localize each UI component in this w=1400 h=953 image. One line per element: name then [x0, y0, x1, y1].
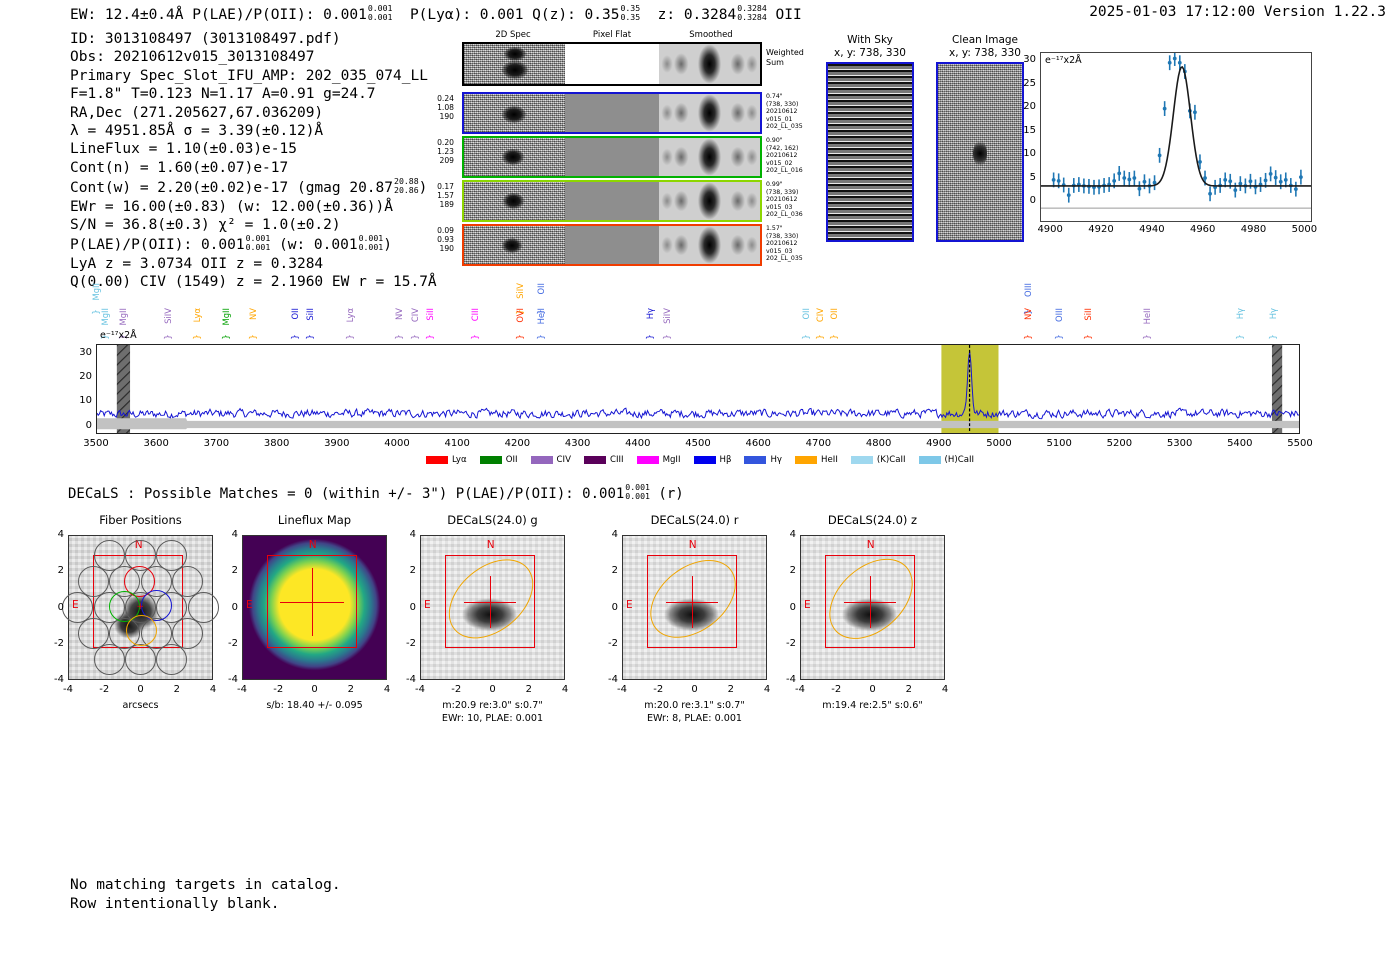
- line-brace-19: {: [661, 334, 671, 340]
- info-primary-spec: Primary Spec_Slot_IFU_AMP: 202_035_074_L…: [70, 67, 437, 85]
- panel-0-xtick: 4: [201, 684, 225, 695]
- panel-2-ytick: -4: [398, 674, 416, 685]
- legend-swatch-icon: [426, 456, 448, 464]
- legend-label: (H)CaII: [945, 455, 975, 465]
- legend-label: (K)CaII: [877, 455, 906, 465]
- header-summary-b: P(Lyα): 0.001 Q(z): 0.35: [410, 7, 620, 23]
- line-label-lyα-9: Lyα: [345, 308, 355, 322]
- panel-4-ytick: -2: [778, 638, 796, 649]
- legend-item-oii: OII: [480, 455, 518, 465]
- legend-label: OII: [506, 455, 518, 465]
- legend-item-hcaii: (H)CaII: [919, 455, 975, 465]
- zoom-plot-area: [1040, 52, 1312, 222]
- col-title-smoothed: Smoothed: [660, 30, 762, 40]
- legend-swatch-icon: [694, 456, 716, 464]
- info-sn-chi2: S/N = 36.8(±0.3) χ² = 1.0(±0.2): [70, 216, 437, 234]
- full-spectrum-svg: [97, 345, 1299, 433]
- weighted-sum-smoothed: [659, 44, 760, 84]
- line-label-siiv-14: SiIV: [515, 283, 525, 299]
- info-cont-w: Cont(w) = 2.20(±0.02)e-17 (gmag 20.8720.…: [70, 177, 437, 197]
- line-brace-28: {: [1234, 334, 1244, 340]
- panel-0-ytick: 0: [46, 602, 64, 613]
- line-label-mgii-5: MgII: [221, 308, 231, 325]
- panel-2-xtick: -4: [408, 684, 432, 695]
- panel-2-caption-1: EWr: 10, PLAE: 0.001: [398, 713, 587, 725]
- panel-title-3: DECaLS(24.0) r: [597, 513, 792, 527]
- line-brace-26: {: [1082, 334, 1092, 340]
- info-id: ID: 3013108497 (3013108497.pdf): [70, 30, 437, 48]
- fiber-strip-3: [462, 180, 762, 222]
- panel-4-xtick: -4: [788, 684, 812, 695]
- panel-1-ytick: -2: [220, 638, 238, 649]
- legend-label: CIII: [610, 455, 624, 465]
- with-sky-title: With Sky x, y: 738, 330: [820, 34, 920, 60]
- info-plae: P(LAE)/P(OII): 0.0010.0010.001 (w: 0.001…: [70, 234, 437, 254]
- legend-item-hβ: Hβ: [694, 455, 732, 465]
- compass-east-4: E: [804, 599, 811, 611]
- line-label-lyα-4: Lyα: [192, 308, 202, 322]
- panel-3-ytick: 0: [600, 602, 618, 613]
- panel-0-ytick: -2: [46, 638, 64, 649]
- panel-1-ytick: 2: [220, 565, 238, 576]
- line-label-civ-21: CIV: [815, 308, 825, 322]
- header-summary-line: EW: 12.4±0.4Å P(LAE)/P(OII): 0.0010.0010…: [70, 4, 802, 23]
- panel-3-ytick: -4: [600, 674, 618, 685]
- line-brace-7: {: [289, 334, 299, 340]
- header-summary-d: OII: [776, 7, 802, 23]
- panel-1-xtick: 4: [375, 684, 399, 695]
- panel-1-ytick: 0: [220, 602, 238, 613]
- panel-3-ytick: -2: [600, 638, 618, 649]
- panel-1-caption-0: s/b: 18.40 +/- 0.095: [220, 700, 409, 712]
- full-spectrum-plot-area: [96, 344, 1300, 434]
- two-d-spectra-group: 2D Spec Pixel Flat Smoothed Weighted Sum…: [420, 30, 770, 260]
- panel-0-ytick: 2: [46, 565, 64, 576]
- panel-1-xtick: 0: [303, 684, 327, 695]
- panel-4-caption-0: m:19.4 re:2.5" s:0.6": [778, 700, 967, 712]
- legend-label: Lyα: [452, 455, 467, 465]
- line-brace-5: {: [220, 334, 230, 340]
- footer-line-1: No matching targets in catalog.: [70, 876, 341, 895]
- weighted-sum-strip: [462, 42, 762, 86]
- panel-1-xtick: -2: [266, 684, 290, 695]
- line-brace-18: {: [644, 334, 654, 340]
- panel-3-xtick: 4: [755, 684, 779, 695]
- line-label-mgii-1: MgII: [100, 308, 110, 325]
- compass-north-2: N: [487, 539, 495, 551]
- line-label-oiii-25: OIII: [1054, 308, 1064, 322]
- crosshair-v-1: [312, 568, 313, 636]
- line-brace-21: {: [814, 334, 824, 340]
- panel-4-ytick: 2: [778, 565, 796, 576]
- line-brace-15: {: [514, 334, 524, 340]
- panel-2-xtick: 2: [517, 684, 541, 695]
- panel-1-ytick: -4: [220, 674, 238, 685]
- header-plae-errors: 0.0010.001: [368, 4, 393, 21]
- panel-0-xtick: 2: [165, 684, 189, 695]
- timestamp-version: 2025-01-03 17:12:00 Version 1.22.3: [1089, 4, 1386, 20]
- legend-swatch-icon: [795, 456, 817, 464]
- fiber-1-left-labels: 0.24 1.08 190: [420, 94, 454, 122]
- decals-plae-errors: 0.0010.001: [625, 483, 650, 500]
- line-brace-6: {: [246, 334, 256, 340]
- panel-2-ytick: 4: [398, 529, 416, 540]
- line-label-ciii-13: CIII: [470, 308, 480, 321]
- panel-4-xtick: 0: [861, 684, 885, 695]
- panel-title-2: DECaLS(24.0) g: [395, 513, 590, 527]
- info-ewr: EWr = 16.00(±0.83) (w: 12.00(±0.36))Å: [70, 198, 437, 216]
- legend-item-lyα: Lyα: [426, 455, 467, 465]
- legend-label: Hβ: [720, 455, 732, 465]
- legend-swatch-icon: [480, 456, 502, 464]
- legend-item-hγ: Hγ: [744, 455, 782, 465]
- line-label-heii-17: HeII: [536, 308, 546, 324]
- legend-label: MgII: [663, 455, 681, 465]
- fiber-strip-1: [462, 92, 762, 134]
- with-sky-image: [826, 62, 914, 242]
- panel-4-ytick: 4: [778, 529, 796, 540]
- fiber-3-right-labels: 0.99" (738, 339) 20210612 v015_03 202_LL…: [766, 181, 814, 219]
- panel-2-ytick: -2: [398, 638, 416, 649]
- full-spectrum-units-annotation: e⁻¹⁷x2Å: [100, 330, 137, 341]
- legend-item-heii: HeII: [795, 455, 838, 465]
- info-lineflux: LineFlux = 1.10(±0.03)e-15: [70, 140, 437, 158]
- line-brace-0: {: [90, 309, 100, 315]
- fiber-circle: [125, 644, 156, 675]
- fiber-2-right-labels: 0.90" (742, 162) 20210612 v015_02 202_LL…: [766, 137, 814, 175]
- panel-2-xtick: -2: [444, 684, 468, 695]
- info-gmag-errors: 20.8820.86: [394, 177, 419, 194]
- line-brace-20: {: [800, 334, 810, 340]
- panel-title-1: Lineflux Map: [217, 513, 412, 527]
- fiber-strip-4: [462, 224, 762, 266]
- panel-3-caption-1: EWr: 8, PLAE: 0.001: [600, 713, 789, 725]
- panel-2-ytick: 2: [398, 565, 416, 576]
- line-brace-8: {: [304, 334, 314, 340]
- legend-swatch-icon: [919, 456, 941, 464]
- legend-label: CIV: [557, 455, 571, 465]
- line-label-hγ-18: Hγ: [645, 308, 655, 319]
- line-label-oii-22: OII: [829, 308, 839, 320]
- line-brace-13: {: [469, 334, 479, 340]
- panel-3-xtick: 2: [719, 684, 743, 695]
- panel-3-xtick: 0: [683, 684, 707, 695]
- info-redshifts: LyA z = 3.0734 OII z = 0.3284: [70, 255, 437, 273]
- fiber-3-left-labels: 0.17 1.57 189: [420, 182, 454, 210]
- legend-swatch-icon: [851, 456, 873, 464]
- line-label-siii-8: SiII: [305, 308, 315, 321]
- compass-north-1: N: [309, 539, 317, 551]
- line-label-nv-6: NV: [248, 308, 258, 320]
- line-label-siii-12: SiII: [425, 308, 435, 321]
- line-brace-10: {: [393, 334, 403, 340]
- line-label-oiii-23: OIII: [1023, 283, 1033, 297]
- panel-3-caption-0: m:20.0 re:3.1" s:0.7": [600, 700, 789, 712]
- info-radec: RA,Dec (271.205627,67.036209): [70, 104, 437, 122]
- legend-swatch-icon: [584, 456, 606, 464]
- line-label-civ-11: CIV: [410, 308, 420, 322]
- zoom-plot-svg: [1041, 53, 1311, 221]
- line-brace-11: {: [409, 334, 419, 340]
- header-summary-a: EW: 12.4±0.4Å P(LAE)/P(OII): 0.001: [70, 7, 367, 23]
- panel-3-ytick: 2: [600, 565, 618, 576]
- decals-headline: DECaLS : Possible Matches = 0 (within +/…: [68, 483, 684, 502]
- panel-0-xtick: -2: [92, 684, 116, 695]
- panel-0-ytick: -4: [46, 674, 64, 685]
- legend-item-mgii: MgII: [637, 455, 681, 465]
- line-label-siiv-19: SiIV: [662, 308, 672, 324]
- panel-4-xtick: -2: [824, 684, 848, 695]
- panel-4-ytick: 0: [778, 602, 796, 613]
- fiber-circle: [94, 644, 125, 675]
- header-summary-c: z: 0.3284: [658, 7, 737, 23]
- line-label-siiv-3: SiIV: [163, 308, 173, 324]
- emission-line-zoom-chart: e⁻¹⁷x2Å 051015202530 4900492049404960498…: [1040, 52, 1312, 222]
- col-title-2d-spec: 2D Spec: [462, 30, 564, 40]
- line-brace-3: {: [162, 334, 172, 340]
- fiber-2-left-labels: 0.20 1.23 209: [420, 138, 454, 166]
- panel-0-xtick: 0: [129, 684, 153, 695]
- panel-title-0: Fiber Positions: [43, 513, 238, 527]
- weighted-sum-2d: [464, 44, 565, 84]
- fiber-strip-2: [462, 136, 762, 178]
- panel-1-ytick: 4: [220, 529, 238, 540]
- line-brace-17: {: [535, 334, 545, 340]
- header-qz-errors: 0.350.35: [620, 4, 640, 21]
- compass-east-2: E: [424, 599, 431, 611]
- panel-2-ytick: 0: [398, 602, 416, 613]
- legend-item-civ: CIV: [531, 455, 571, 465]
- panel-0-xtick: -4: [56, 684, 80, 695]
- line-brace-4: {: [191, 334, 201, 340]
- line-label-mgii-0: MgII: [91, 283, 101, 300]
- weighted-sum-flat: [565, 44, 660, 84]
- weighted-sum-label: Weighted Sum: [766, 48, 814, 68]
- panel-3-xtick: -2: [646, 684, 670, 695]
- panel-2-caption-0: m:20.9 re:3.0" s:0.7": [398, 700, 587, 712]
- panel-0-ytick: 4: [46, 529, 64, 540]
- line-label-oii-20: OII: [801, 308, 811, 320]
- panel-2-xtick: 0: [481, 684, 505, 695]
- panel-4-ytick: -4: [778, 674, 796, 685]
- compass-east-3: E: [626, 599, 633, 611]
- panel-2-xtick: 4: [553, 684, 577, 695]
- line-label-oii-7: OII: [290, 308, 300, 320]
- line-brace-27: {: [1141, 334, 1151, 340]
- line-brace-9: {: [344, 334, 354, 340]
- panel-0-xlabel: arcsecs: [48, 700, 233, 712]
- line-label-mgii-2: MgII: [118, 308, 128, 325]
- legend-label: HeII: [821, 455, 838, 465]
- source-info-block: ID: 3013108497 (3013108497.pdf) Obs: 202…: [70, 30, 437, 292]
- line-label-siii-26: SiII: [1083, 308, 1093, 321]
- legend-swatch-icon: [744, 456, 766, 464]
- line-brace-25: {: [1053, 334, 1063, 340]
- zoom-units-annotation: e⁻¹⁷x2Å: [1045, 55, 1082, 66]
- legend-swatch-icon: [637, 456, 659, 464]
- legend-label: Hγ: [770, 455, 782, 465]
- line-brace-24: {: [1022, 334, 1032, 340]
- footer-note: No matching targets in catalog. Row inte…: [70, 876, 341, 914]
- info-seeing: F=1.8" T=0.123 N=1.17 A=0.91 g=24.7: [70, 85, 437, 103]
- line-brace-29: {: [1267, 334, 1277, 340]
- legend-item-kcaii: (K)CaII: [851, 455, 906, 465]
- line-label-oii-16: OII: [536, 283, 546, 295]
- panel-4-xtick: 2: [897, 684, 921, 695]
- line-label-hγ-29: Hγ: [1268, 308, 1278, 319]
- info-cont-n: Cont(n) = 1.60(±0.07)e-17: [70, 159, 437, 177]
- line-label-heii-27: HeII: [1142, 308, 1152, 324]
- compass-east-1: E: [246, 599, 253, 611]
- legend-swatch-icon: [531, 456, 553, 464]
- legend-item-ciii: CIII: [584, 455, 624, 465]
- info-plae-w-errors: 0.0010.001: [359, 234, 384, 251]
- fiber-center-marker: +: [137, 602, 145, 612]
- line-label-nv-24: NV: [1023, 308, 1033, 320]
- info-obs: Obs: 20210612v015_3013108497: [70, 48, 437, 66]
- fiber-1-right-labels: 0.74" (738, 330) 20210612 v015_01 202_LL…: [766, 93, 814, 131]
- panel-3-ytick: 4: [600, 529, 618, 540]
- panel-1-xtick: 2: [339, 684, 363, 695]
- fiber-4-left-labels: 0.09 0.93 190: [420, 226, 454, 254]
- footer-line-2: Row intentionally blank.: [70, 895, 341, 914]
- line-label-nv-10: NV: [394, 308, 404, 320]
- info-civ: Q(0.00) CIV (1549) z = 2.1960 EW r = 15.…: [70, 273, 437, 291]
- clean-image: [936, 62, 1024, 242]
- col-title-pixel-flat: Pixel Flat: [564, 30, 660, 40]
- info-lambda-sigma: λ = 4951.85Å σ = 3.39(±0.12)Å: [70, 122, 437, 140]
- line-label-hγ-28: Hγ: [1235, 308, 1245, 319]
- line-label-ovi-15: OVI: [515, 308, 525, 323]
- compass-north-4: N: [867, 539, 875, 551]
- line-brace-22: {: [828, 334, 838, 340]
- fiber-4-right-labels: 1.57" (738, 330) 20210612 v015_03 202_LL…: [766, 225, 814, 263]
- line-brace-12: {: [424, 334, 434, 340]
- panel-1-xtick: -4: [230, 684, 254, 695]
- spectral-line-legend: LyαOIICIVCIIIMgIIHβHγHeII(K)CaII(H)CaII: [0, 455, 1400, 465]
- info-plae-errors: 0.0010.001: [246, 234, 271, 251]
- panel-3-xtick: -4: [610, 684, 634, 695]
- header-z-errors: 0.32840.3284: [737, 4, 767, 21]
- full-spectrum-chart: e⁻¹⁷x2Å 0102030 350036003700380039004000…: [96, 344, 1300, 434]
- panel-title-4: DECaLS(24.0) z: [775, 513, 970, 527]
- compass-north-3: N: [689, 539, 697, 551]
- panel-4-xtick: 4: [933, 684, 957, 695]
